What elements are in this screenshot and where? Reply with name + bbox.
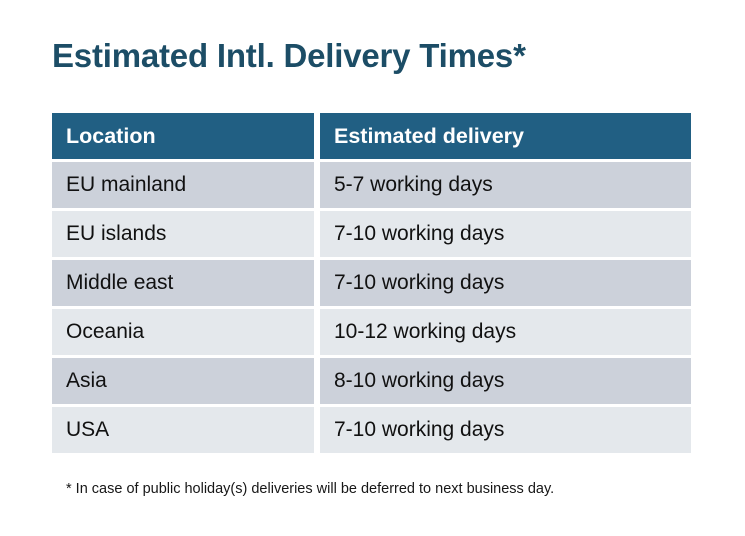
cell-location-text: EU mainland <box>52 162 314 208</box>
cell-estimate: 8-10 working days <box>320 358 691 404</box>
column-header-location-label: Location <box>52 113 314 159</box>
footnote: * In case of public holiday(s) deliverie… <box>66 479 554 499</box>
cell-estimate-text: 5-7 working days <box>320 162 691 208</box>
column-header-estimate: Estimated delivery <box>320 113 691 159</box>
cell-location: Middle east <box>52 260 314 306</box>
cell-location: EU mainland <box>52 162 314 208</box>
cell-estimate: 7-10 working days <box>320 260 691 306</box>
table-body: EU mainland 5-7 working days EU islands … <box>52 159 691 453</box>
cell-estimate: 7-10 working days <box>320 407 691 453</box>
table-row: EU mainland 5-7 working days <box>52 162 691 208</box>
table-row: Asia 8-10 working days <box>52 358 691 404</box>
cell-location: USA <box>52 407 314 453</box>
table-row: EU islands 7-10 working days <box>52 211 691 257</box>
cell-estimate-text: 7-10 working days <box>320 407 691 453</box>
cell-location: Oceania <box>52 309 314 355</box>
cell-estimate-text: 7-10 working days <box>320 211 691 257</box>
cell-location: Asia <box>52 358 314 404</box>
table-header: Location Estimated delivery <box>52 113 691 159</box>
delivery-times-document: Estimated Intl. Delivery Times* Location… <box>0 0 745 536</box>
cell-estimate-text: 8-10 working days <box>320 358 691 404</box>
table-header-row: Location Estimated delivery <box>52 113 691 159</box>
table-row: USA 7-10 working days <box>52 407 691 453</box>
cell-location-text: Oceania <box>52 309 314 355</box>
page-title: Estimated Intl. Delivery Times* <box>52 36 526 76</box>
cell-estimate: 7-10 working days <box>320 211 691 257</box>
cell-location-text: Asia <box>52 358 314 404</box>
cell-location-text: Middle east <box>52 260 314 306</box>
cell-location-text: USA <box>52 407 314 453</box>
delivery-times-table: Location Estimated delivery EU mainland <box>52 113 691 453</box>
cell-estimate-text: 7-10 working days <box>320 260 691 306</box>
cell-estimate: 5-7 working days <box>320 162 691 208</box>
table-row: Oceania 10-12 working days <box>52 309 691 355</box>
column-header-location: Location <box>52 113 314 159</box>
cell-location-text: EU islands <box>52 211 314 257</box>
table-row: Middle east 7-10 working days <box>52 260 691 306</box>
column-header-estimate-label: Estimated delivery <box>320 113 691 159</box>
cell-location: EU islands <box>52 211 314 257</box>
cell-estimate-text: 10-12 working days <box>320 309 691 355</box>
cell-estimate: 10-12 working days <box>320 309 691 355</box>
